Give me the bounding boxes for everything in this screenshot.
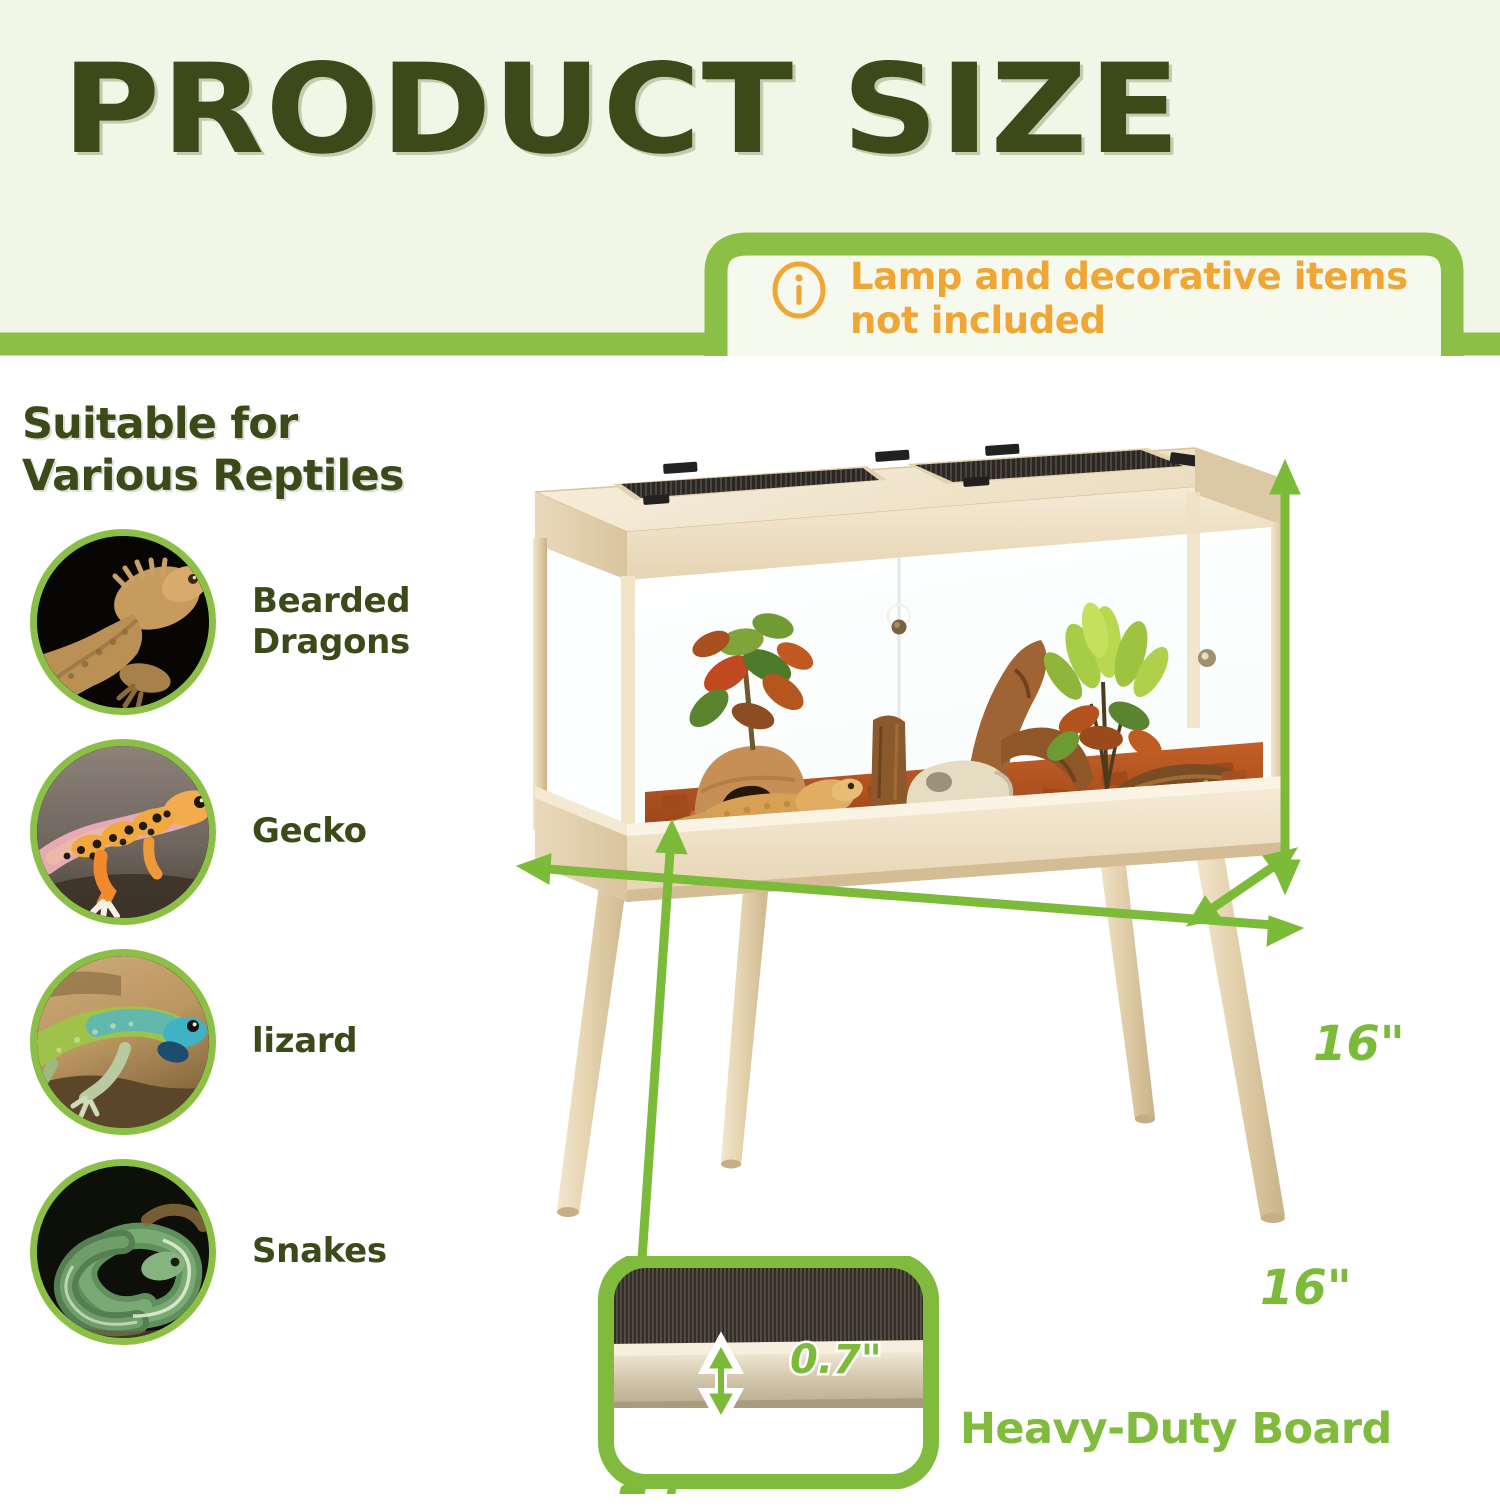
list-item: Gecko bbox=[30, 734, 490, 929]
green-lizard-photo bbox=[37, 956, 209, 1128]
suitable-reptiles-panel: Suitable for Various Reptiles bbox=[22, 398, 492, 503]
height-dimension-label: 16" bbox=[1313, 1016, 1405, 1072]
page-title: PRODUCT SIZE bbox=[62, 48, 1500, 172]
list-item-label: Gecko bbox=[252, 811, 367, 851]
list-item: Snakes bbox=[30, 1154, 490, 1349]
info-circle-icon bbox=[770, 261, 828, 319]
list-item-label: Snakes bbox=[252, 1231, 387, 1271]
board-caption: Heavy-Duty Board bbox=[960, 1404, 1392, 1454]
notice-text: Lamp and decorative items not included bbox=[850, 255, 1408, 342]
snake-thumb bbox=[30, 1159, 216, 1345]
gecko-thumb bbox=[30, 739, 216, 925]
notice-badge: Lamp and decorative items not included bbox=[742, 243, 1462, 347]
list-item: Bearded Dragons bbox=[30, 524, 490, 719]
leopard-gecko-photo bbox=[37, 746, 209, 918]
depth-dimension-label: 16" bbox=[1260, 1260, 1352, 1316]
green-snake-photo bbox=[37, 1166, 209, 1338]
log-decor bbox=[871, 715, 907, 811]
heavy-duty-board-inset bbox=[596, 1256, 941, 1489]
list-item: lizard bbox=[30, 944, 490, 1139]
board-thickness-label: 0.7" bbox=[790, 1337, 882, 1383]
bearded-dragon-photo bbox=[37, 536, 209, 708]
reptiles-heading: Suitable for Various Reptiles bbox=[22, 398, 492, 503]
list-item-label: Bearded Dragons bbox=[252, 581, 410, 661]
list-item-label: lizard bbox=[252, 1021, 357, 1061]
lizard-thumb bbox=[30, 949, 216, 1135]
bearded-dragon-thumb bbox=[30, 529, 216, 715]
